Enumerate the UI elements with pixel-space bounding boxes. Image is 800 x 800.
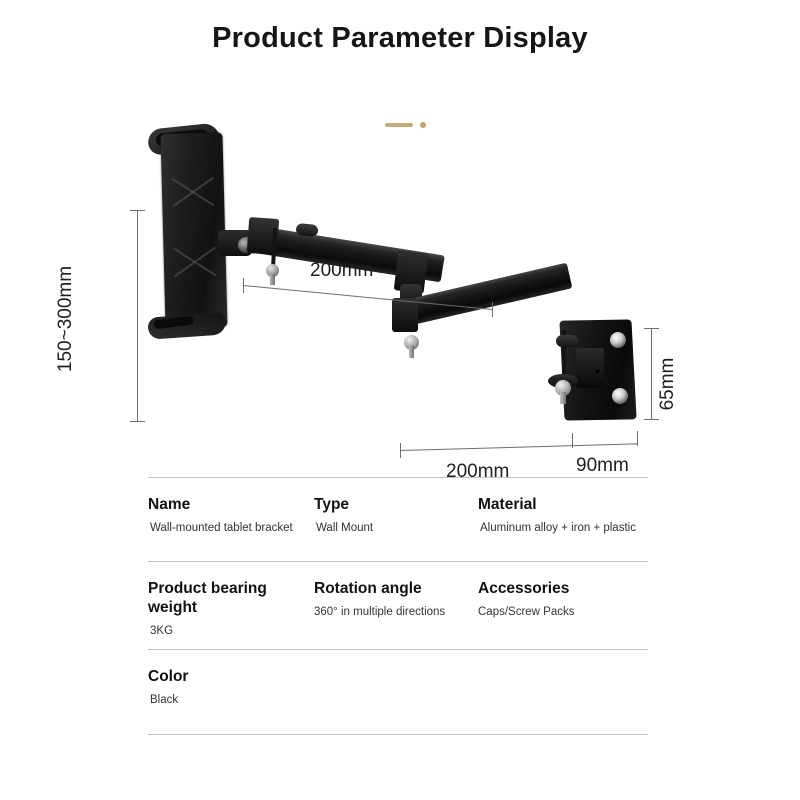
- dimension-tick-lower-left: [400, 443, 401, 458]
- spec-label: Product bearing weight: [148, 579, 314, 617]
- spec-label: Rotation angle: [314, 579, 478, 598]
- spec-cell-bearing-weight: Product bearing weight 3KG: [148, 562, 314, 649]
- wall-plate-screw-hole-bottom: [612, 388, 628, 404]
- clamp-bottom-jaw: [147, 312, 226, 339]
- spec-label: Accessories: [478, 579, 648, 598]
- clamp-bottom-jaw-pad: [153, 316, 194, 330]
- spec-label: Type: [314, 495, 478, 514]
- spec-value: 360° in multiple directions: [314, 605, 478, 620]
- spec-label: Name: [148, 495, 314, 514]
- spec-cell-material: Material Aluminum alloy + iron + plastic: [478, 478, 648, 561]
- spec-cell-type: Type Wall Mount: [314, 478, 478, 561]
- upper-arm-bolt-stem: [270, 274, 275, 285]
- spec-value: Wall Mount: [314, 521, 478, 536]
- spec-row: Product bearing weight 3KG Rotation angl…: [148, 562, 648, 649]
- dimension-tick-upper-arm-right: [492, 302, 493, 317]
- dimension-label-height: 150~300mm: [55, 244, 77, 394]
- dimension-line-lower: [400, 443, 638, 451]
- elbow-bolt-stem: [409, 346, 414, 358]
- spec-table: Name Wall-mounted tablet bracket Type Wa…: [148, 477, 648, 735]
- spec-row: Color Black: [148, 650, 648, 734]
- spec-cell-rotation-angle: Rotation angle 360° in multiple directio…: [314, 562, 478, 649]
- dimension-tick-lower-right: [637, 431, 638, 446]
- dimension-label-plate-height: 65mm: [657, 344, 679, 424]
- wall-plate-boss-hole: [594, 368, 601, 375]
- wall-plate-screw-hole-top: [610, 332, 626, 348]
- dimension-tick-upper-arm-left: [243, 278, 244, 293]
- spec-value: Wall-mounted tablet bracket: [148, 521, 314, 536]
- spec-value: Aluminum alloy + iron + plastic: [478, 521, 648, 536]
- tan-bar-artifact: [385, 123, 413, 127]
- spec-cell-empty-1: [314, 650, 478, 734]
- wall-plate-bolt-stem: [560, 392, 566, 404]
- spec-row: Name Wall-mounted tablet bracket Type Wa…: [148, 478, 648, 561]
- dimension-tick-plate-top: [644, 328, 659, 329]
- tablet-clamp-body: [160, 132, 227, 329]
- product-parameter-page: Product Parameter Display: [0, 0, 800, 800]
- dimension-label-upper-arm: 200mm: [310, 260, 373, 282]
- page-title: Product Parameter Display: [0, 22, 800, 55]
- wall-plate-knuckle: [556, 335, 578, 347]
- spec-label: Color: [148, 667, 314, 686]
- dimension-label-wall-offset: 90mm: [576, 455, 629, 477]
- dimension-line-plate-height: [651, 328, 652, 420]
- dimension-tick-lower-middle: [572, 433, 573, 448]
- dimension-tick-height-bottom: [130, 421, 145, 422]
- spec-value: 3KG: [148, 624, 314, 639]
- spec-cell-empty-2: [478, 650, 648, 734]
- product-illustration: 150~300mm 200mm 65mm 200mm 90mm: [0, 80, 800, 450]
- spec-label: Material: [478, 495, 648, 514]
- spec-cell-name: Name Wall-mounted tablet bracket: [148, 478, 314, 561]
- lower-arm-joint-block: [392, 298, 418, 332]
- spec-divider-bottom: [148, 734, 648, 735]
- spec-value: Caps/Screw Packs: [478, 605, 648, 620]
- spec-cell-accessories: Accessories Caps/Screw Packs: [478, 562, 648, 649]
- tan-dot-artifact: [420, 122, 426, 128]
- spec-value: Black: [148, 693, 314, 708]
- dimension-line-height: [137, 210, 138, 422]
- upper-arm-knuckle: [295, 223, 318, 237]
- dimension-tick-height-top: [130, 210, 145, 211]
- spec-cell-color: Color Black: [148, 650, 314, 734]
